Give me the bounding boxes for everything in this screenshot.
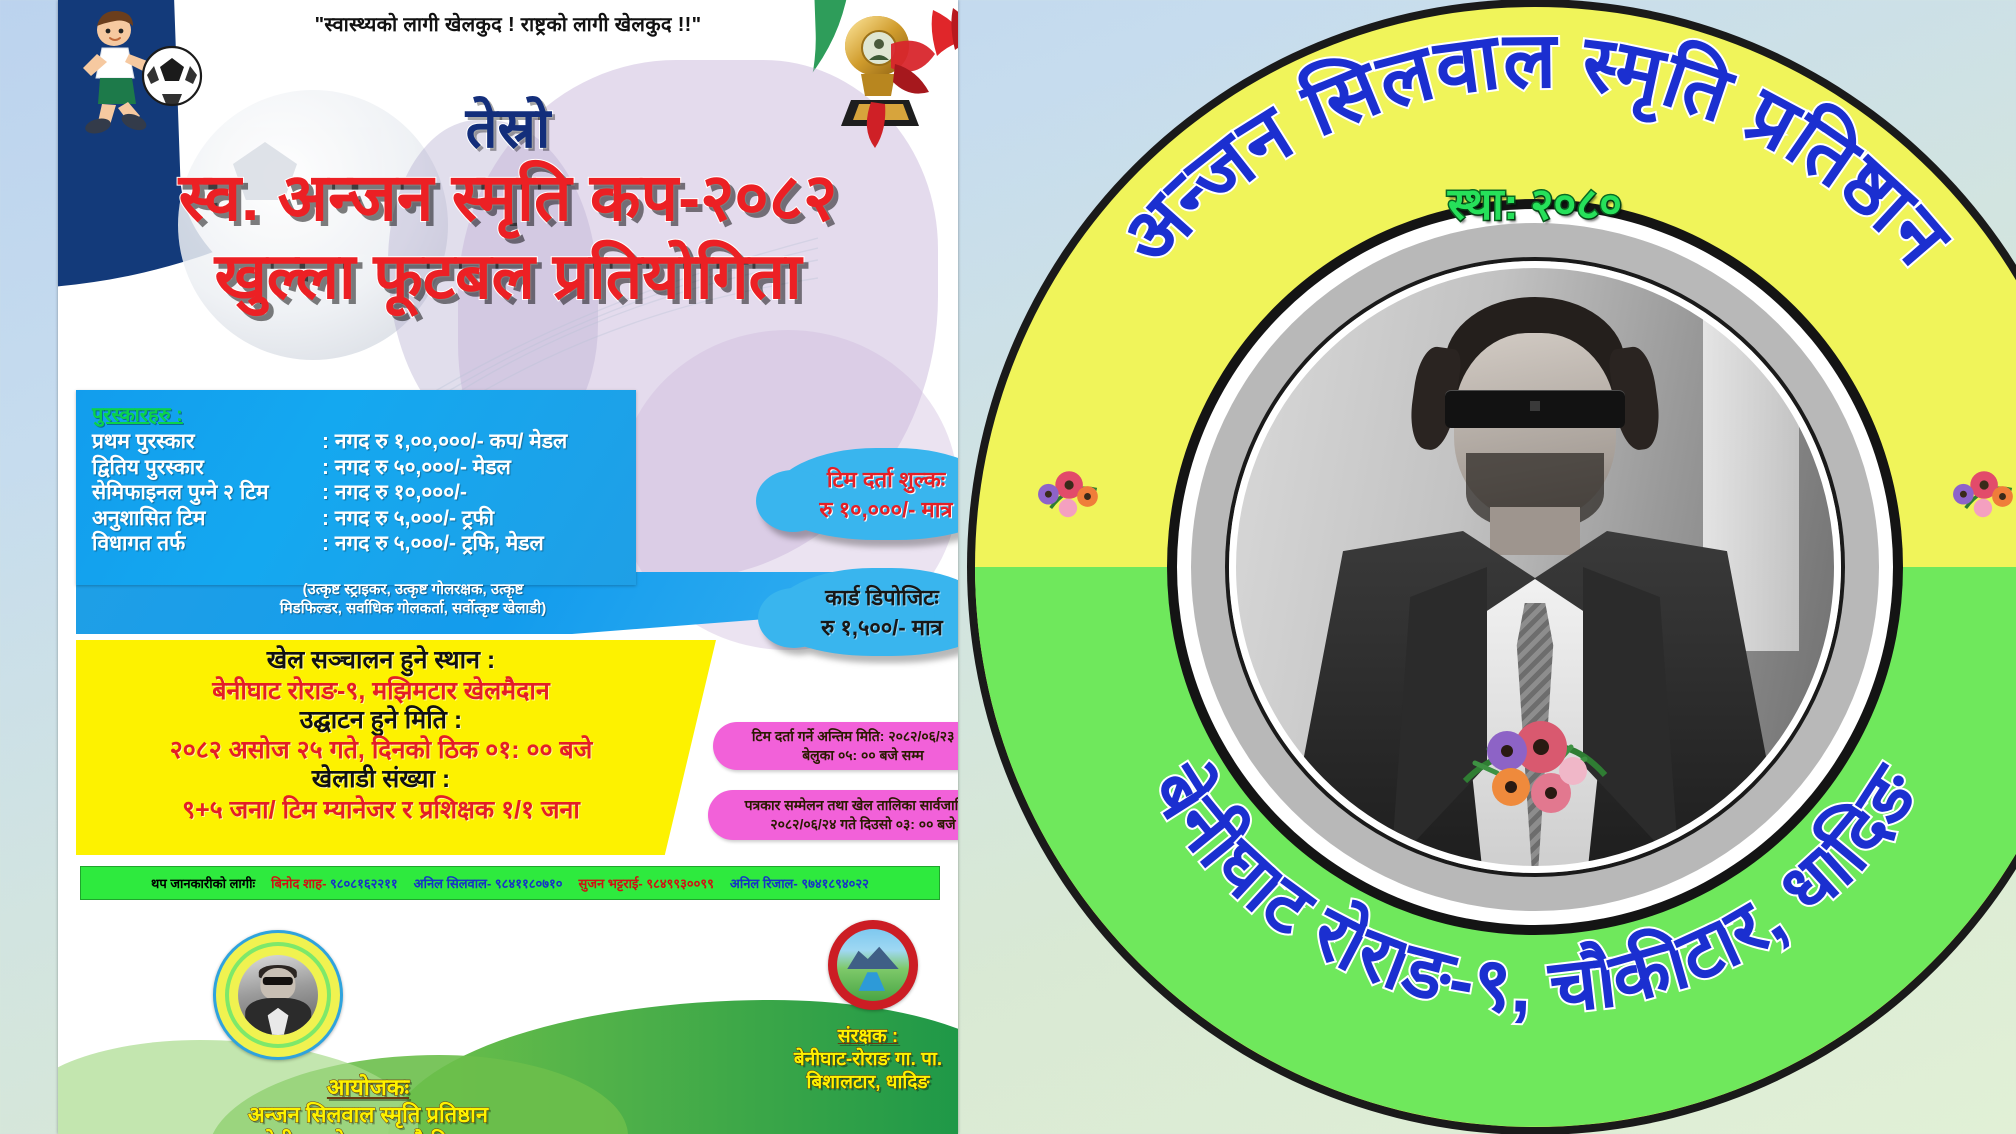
tournament-poster: "स्वास्थ्यको लागी खेलकुद ! राष्ट्रको लाग…	[58, 0, 958, 1134]
deadline-line-1: टिम दर्ता गर्ने अन्तिम मिति: २०८२/०६/२३ …	[752, 727, 958, 746]
registration-fee-value: रु १०,०००/- मात्र	[819, 494, 952, 524]
press-line-2: २०८२/०६/२४ गते दिउसो ०३: ०० बजे	[770, 815, 955, 834]
contact-phone[interactable]: ९८४११८०७१०	[495, 876, 563, 891]
contact-name: अनिल सिलवाल-	[414, 876, 492, 891]
contact-person-4: अनिल रिजाल- ९७४१८९४०२२	[730, 874, 869, 892]
poster-title-line1: स्व. अन्जन स्मृति कप-२०८२	[58, 150, 958, 240]
prizes-panel: पुरस्कारहरु : प्रथम पुरस्कार : नगद रु १,…	[76, 390, 636, 585]
card-deposit-label: कार्ड डिपोजिटः	[825, 582, 939, 612]
prize-label: सेमिफाइनल पुग्ने २ टिम	[92, 480, 322, 506]
press-line-1: पत्रकार सम्मेलन तथा खेल तालिका सार्वजानि…	[745, 796, 958, 815]
contact-name: बिनोद शाह-	[271, 876, 326, 891]
contact-name: अनिल रिजाल-	[730, 876, 798, 891]
opening-date-heading: उद्घाटन हुने मिति :	[76, 706, 686, 736]
organizer-seal-icon	[213, 930, 343, 1060]
prize-row: द्वितिय पुरस्कार : नगद रु ५०,०००/- मेडल	[92, 455, 636, 481]
prize-label: अनुशासित टिम	[92, 506, 322, 532]
prize-row: प्रथम पुरस्कार : नगद रु १,००,०००/- कप/ म…	[92, 429, 636, 455]
prize-note-line-1: (उत्कृष्ट स्ट्राइकर, उत्कृष्ट गोलरक्षक, …	[198, 580, 628, 599]
registration-deadline-notice: टिम दर्ता गर्ने अन्तिम मिति: २०८२/०६/२३ …	[713, 722, 958, 770]
contact-bar: थप जानकारीको लागीः बिनोद शाह- ९८०८१६२२११…	[80, 866, 940, 900]
prize-label: द्वितिय पुरस्कार	[92, 455, 322, 481]
deadline-line-2: बेलुका ०५: ०० बजे सम्म	[802, 746, 924, 765]
prize-value: : नगद रु ५०,०००/- मेडल	[322, 455, 511, 481]
prize-special-awards-note: (उत्कृष्ट स्ट्राइकर, उत्कृष्ट गोलरक्षक, …	[198, 580, 628, 618]
prize-value: : नगद रु ५,०००/- ट्रफि, मेडल	[322, 531, 544, 557]
portrait-ring	[1229, 261, 1841, 873]
contact-phone[interactable]: ९७४१८९४०२२	[801, 876, 869, 891]
contact-person-1: बिनोद शाह- ९८०८१६२२११	[271, 874, 398, 892]
contact-person-2: अनिल सिलवाल- ९८४११८०७१०	[414, 874, 563, 892]
prize-row: विधागत तर्फ : नगद रु ५,०००/- ट्रफि, मेडल	[92, 531, 636, 557]
patron-heading: संरक्षक :	[658, 1022, 958, 1048]
prize-label: प्रथम पुरस्कार	[92, 429, 322, 455]
prize-label: विधागत तर्फ	[92, 531, 322, 557]
prize-row: अनुशासित टिम : नगद रु ५,०००/- ट्रफी	[92, 506, 636, 532]
prize-value: : नगद रु १०,०००/-	[322, 480, 467, 506]
prizes-heading: पुरस्कारहरु :	[92, 400, 636, 427]
venue-panel: खेल सञ्चालन हुने स्थान : बेनीघाट रोराङ-९…	[76, 640, 716, 855]
organizer-heading: आयोजकः	[98, 1070, 638, 1102]
foundation-emblem: अन्जन सिलवाल स्मृति प्रतिष्ठान बेनीघाट र…	[960, 0, 2016, 1134]
patron-address: बिशालटार, धादिङ	[658, 1071, 958, 1094]
player-count-heading: खेलाडी संख्या :	[76, 765, 686, 795]
team-registration-fee-bubble: टिम दर्ता शुल्कः रु १०,०००/- मात्र	[770, 448, 958, 540]
contact-person-3: सुजन भट्टराई- ९८४९९३००९९	[579, 874, 714, 892]
opening-date-value: २०८२ असोज २५ गते, दिनको ठिक ०१: ०० बजे	[76, 735, 686, 765]
prize-value: : नगद रु १,००,०००/- कप/ मेडल	[322, 429, 567, 455]
venue-value: बेनीघाट रोराङ-९, मझिमटार खेलमैदान	[76, 676, 686, 706]
prize-note-line-2: मिडफिल्डर, सर्वाधिक गोलकर्ता, सर्वोत्कृष…	[198, 599, 628, 618]
poster-title-line2: खुल्ला फूटबल प्रतियोगिता	[58, 230, 958, 317]
contact-phone[interactable]: ९८४९९३००९९	[646, 876, 714, 891]
registration-fee-label: टिम दर्ता शुल्कः	[827, 464, 945, 494]
organizer-name: अन्जन सिलवाल स्मृति प्रतिष्ठान	[98, 1102, 638, 1129]
prize-value: : नगद रु ५,०००/- ट्रफी	[322, 506, 494, 532]
organizer-address: बेनीघाट-रोराङ-९, चौकीटार	[98, 1129, 638, 1134]
municipality-seal-icon	[828, 920, 918, 1010]
patron-name: बेनीघाट-रोराङ गा. पा.	[658, 1048, 958, 1071]
established-year: स्था: २०८०	[960, 172, 2016, 232]
card-deposit-value: रु १,५००/- मात्र	[821, 612, 943, 642]
player-count-value: ९+५ जना/ टिम म्यानेजर र प्रशिक्षक १/१ जन…	[76, 795, 686, 825]
patron-block: संरक्षक : बेनीघाट-रोराङ गा. पा. बिशालटार…	[658, 1022, 958, 1094]
press-conference-notice: पत्रकार सम्मेलन तथा खेल तालिका सार्वजानि…	[708, 790, 958, 840]
contact-phone[interactable]: ९८०८१६२२११	[330, 876, 398, 891]
contact-name: सुजन भट्टराई-	[579, 876, 643, 891]
prize-row: सेमिफाइनल पुग्ने २ टिम : नगद रु १०,०००/-	[92, 480, 636, 506]
venue-heading: खेल सञ्चालन हुने स्थान :	[76, 646, 686, 676]
contact-prefix: थप जानकारीको लागीः	[151, 874, 255, 892]
organizer-block: आयोजकः अन्जन सिलवाल स्मृति प्रतिष्ठान बे…	[98, 1070, 638, 1134]
